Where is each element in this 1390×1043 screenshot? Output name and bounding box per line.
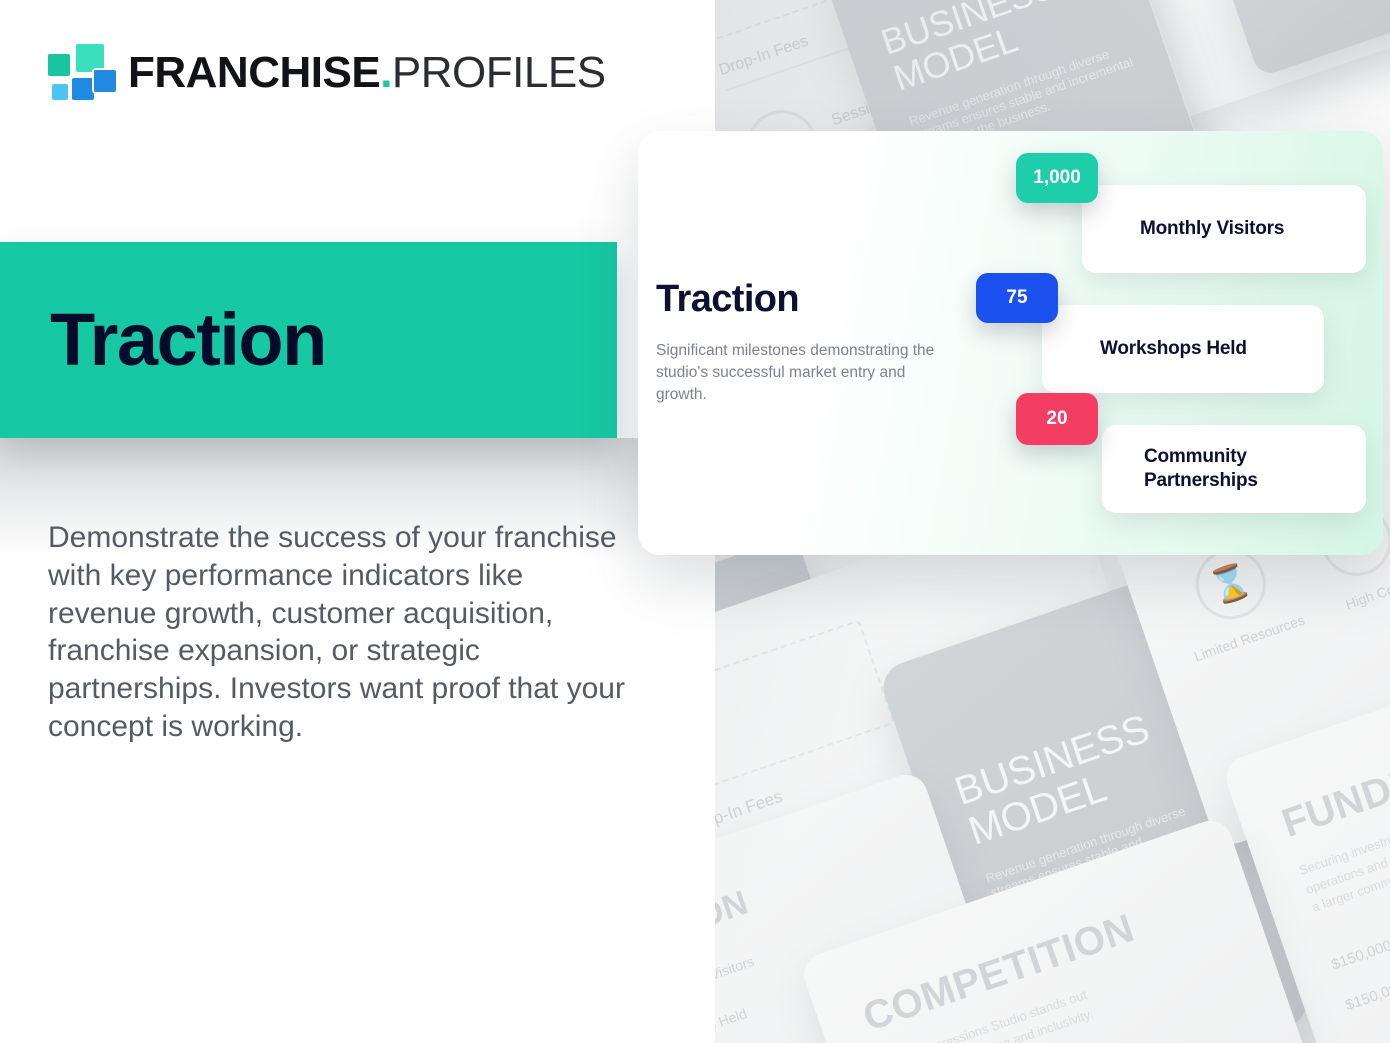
- slide-canvas: ⌛ Limited Resources High Cost Drop-In Fe…: [0, 0, 1390, 1043]
- metric-label: Workshops Held: [1100, 337, 1247, 361]
- brand-wordmark: FRANCHISE.PROFILES: [128, 51, 606, 95]
- section-description: Demonstrate the success of your franchis…: [48, 519, 633, 746]
- traction-preview-title: Traction: [656, 280, 986, 318]
- bg-label: Limited Resources: [1192, 612, 1307, 665]
- bg-label: High Cost: [1339, 576, 1390, 614]
- metric-card: Community Partnerships: [1102, 425, 1366, 513]
- brand-name-bold: FRANCHISE: [128, 48, 380, 97]
- metric-label: Community Partnerships: [1144, 445, 1294, 493]
- section-banner: Traction: [0, 242, 617, 438]
- bg-metric-label: Workshops Held: [715, 1005, 749, 1043]
- brand-name-dot: .: [380, 48, 392, 97]
- brand-name-light: PROFILES: [392, 48, 606, 97]
- metric-label: Monthly Visitors: [1140, 217, 1284, 241]
- metric-card: Workshops Held: [1042, 305, 1324, 393]
- metric-value-badge: 20: [1016, 393, 1098, 445]
- page-title: Traction: [50, 303, 326, 377]
- bg-title: FUNDRAISING: [1277, 723, 1390, 847]
- metric-value-badge: 1,000: [1016, 153, 1098, 203]
- traction-preview-text: Traction Significant milestones demonstr…: [656, 131, 986, 555]
- metric-value-badge: 75: [976, 273, 1058, 323]
- bg-metric-label: Monthly Visitors: [715, 952, 756, 999]
- brand-logo[interactable]: FRANCHISE.PROFILES: [48, 44, 606, 102]
- metric-card: Monthly Visitors: [1082, 185, 1366, 273]
- five-squares-logo-mark-icon: [48, 44, 106, 102]
- traction-preview-card: Traction Significant milestones demonstr…: [638, 131, 1383, 555]
- traction-preview-subtitle: Significant milestones demonstrating the…: [656, 340, 956, 406]
- traction-metrics-list: Monthly Visitors 1,000 Workshops Held 75…: [1006, 153, 1366, 535]
